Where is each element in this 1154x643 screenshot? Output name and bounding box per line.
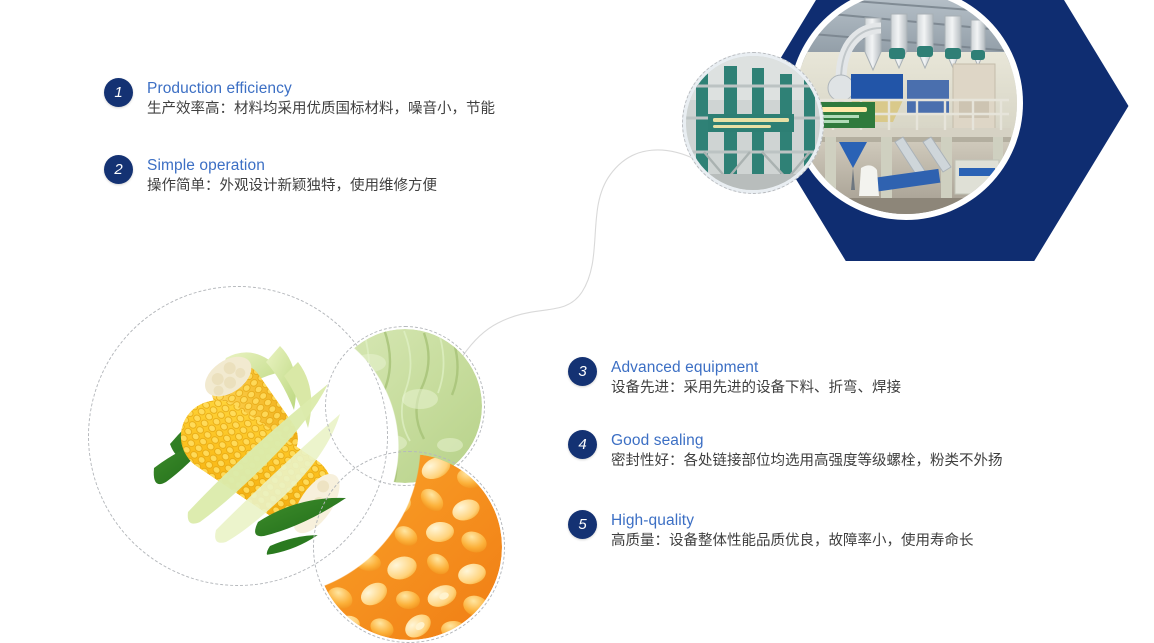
corn-milling-plant-photo <box>795 0 1017 214</box>
feature-item-5[interactable]: 5 High-quality 高质量：设备整体性能品质优良，故障率小，使用寿命长 <box>568 510 974 552</box>
corn-grits-photo <box>316 454 502 640</box>
feature-title-4: Good sealing <box>611 431 1003 450</box>
feature-badge-4: 4 <box>568 430 597 459</box>
corn-media-cluster <box>88 286 488 606</box>
feature-text-2: Simple operation 操作简单：外观设计新颖独特，使用维修方便 <box>147 155 437 197</box>
feature-description-5: 高质量：设备整体性能品质优良，故障率小，使用寿命长 <box>611 531 974 552</box>
infographic-stage: 1 Production efficiency 生产效率高：材料均采用优质国标材… <box>0 0 1154 591</box>
feature-text-1: Production efficiency 生产效率高：材料均采用优质国标材料，… <box>147 78 495 120</box>
factory-media-cluster <box>660 0 1140 264</box>
feature-text-4: Good sealing 密封性好：各处链接部位均选用高强度等级螺栓，粉类不外扬 <box>611 430 1003 472</box>
feature-title-1: Production efficiency <box>147 79 495 98</box>
feature-description-1: 生产效率高：材料均采用优质国标材料，噪音小，节能 <box>147 99 495 120</box>
feature-item-2[interactable]: 2 Simple operation 操作简单：外观设计新颖独特，使用维修方便 <box>104 155 437 197</box>
feature-title-3: Advanced equipment <box>611 358 901 377</box>
feature-text-5: High-quality 高质量：设备整体性能品质优良，故障率小，使用寿命长 <box>611 510 974 552</box>
feature-badge-1: 1 <box>104 78 133 107</box>
feature-badge-5: 5 <box>568 510 597 539</box>
feature-description-2: 操作简单：外观设计新颖独特，使用维修方便 <box>147 176 437 197</box>
feature-description-3: 设备先进：采用先进的设备下料、折弯、焊接 <box>611 378 901 399</box>
feature-item-3[interactable]: 3 Advanced equipment 设备先进：采用先进的设备下料、折弯、焊… <box>568 357 901 399</box>
feature-badge-3: 3 <box>568 357 597 386</box>
feature-description-4: 密封性好：各处链接部位均选用高强度等级螺栓，粉类不外扬 <box>611 451 1003 472</box>
feature-badge-2: 2 <box>104 155 133 184</box>
feature-item-1[interactable]: 1 Production efficiency 生产效率高：材料均采用优质国标材… <box>104 78 495 120</box>
feature-title-2: Simple operation <box>147 156 437 175</box>
feature-item-4[interactable]: 4 Good sealing 密封性好：各处链接部位均选用高强度等级螺栓，粉类不… <box>568 430 1003 472</box>
green-milling-machine-photo <box>682 52 824 194</box>
feature-text-3: Advanced equipment 设备先进：采用先进的设备下料、折弯、焊接 <box>611 357 901 399</box>
feature-title-5: High-quality <box>611 511 974 530</box>
